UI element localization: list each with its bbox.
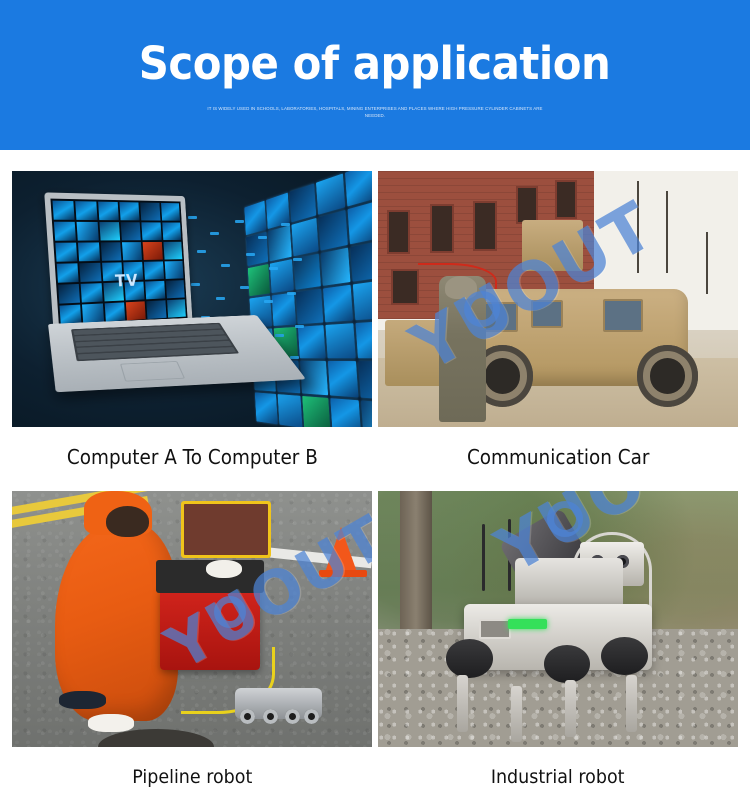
gallery-item-label: Industrial robot xyxy=(491,765,625,789)
traffic-cone-base xyxy=(319,570,367,577)
robot-leg-shin xyxy=(565,680,576,736)
robot-leg-shin xyxy=(511,686,522,742)
vehicle-window xyxy=(603,299,643,332)
vehicle-window xyxy=(531,300,562,327)
antenna-icon xyxy=(637,181,639,273)
communication-car-photo: YUOUT xyxy=(378,171,738,427)
laptop-keyboard xyxy=(71,323,239,361)
worker-shoe xyxy=(88,714,135,732)
vehicle-turret xyxy=(522,220,583,271)
industrial-robot-photo: YUOUT xyxy=(378,491,738,747)
gallery-item-communication-car[interactable]: YUOUT Communication Car xyxy=(378,171,738,491)
page-header: Scope of application IT IS WIDELY USED I… xyxy=(0,0,750,150)
laptop-screen xyxy=(50,199,187,327)
laptop-lid: TV xyxy=(44,192,193,338)
vehicle-wheel xyxy=(637,345,698,406)
gallery-item-pipeline-robot[interactable]: YUOUT Pipeline robot xyxy=(12,491,372,798)
worker-head xyxy=(106,506,149,537)
status-led xyxy=(508,619,548,629)
scope-of-application-page: Scope of application IT IS WIDELY USED I… xyxy=(0,0,750,798)
gallery-item-computer[interactable]: TV Computer A To Computer B xyxy=(12,171,372,491)
antenna-icon xyxy=(706,232,708,293)
gallery-item-label: Pipeline robot xyxy=(132,765,252,789)
worker-glove xyxy=(206,560,242,578)
laptop-trackpad xyxy=(120,361,185,382)
page-title: Scope of application xyxy=(139,38,611,90)
application-gallery: TV Computer A To Computer B xyxy=(0,150,750,798)
robot-leg-shin xyxy=(457,675,468,731)
robot-leg-thigh xyxy=(446,639,493,677)
gallery-item-label: Communication Car xyxy=(467,445,650,469)
robot-leg-thigh xyxy=(544,645,591,683)
robot-leg-thigh xyxy=(601,637,648,675)
antenna-icon xyxy=(666,191,668,273)
crawler-robot xyxy=(235,688,321,719)
page-subtitle: IT IS WIDELY USED IN SCHOOLS, LABORATORI… xyxy=(205,106,545,119)
inspection-monitor xyxy=(181,501,271,557)
tree-trunk xyxy=(400,491,432,650)
worker-shoe xyxy=(59,691,106,709)
tv-text-overlay: TV xyxy=(115,272,139,292)
soldier-helmet xyxy=(445,276,477,299)
robot-display-panel xyxy=(479,619,511,639)
antenna-icon xyxy=(482,524,485,591)
traffic-cone xyxy=(324,527,358,575)
computer-photo: TV xyxy=(12,171,372,427)
gallery-item-industrial-robot[interactable]: YUOUT Industrial robot xyxy=(378,491,738,798)
gallery-item-label: Computer A To Computer B xyxy=(67,445,318,469)
vehicle-window xyxy=(482,302,518,331)
pipeline-robot-photo: YUOUT xyxy=(12,491,372,747)
laptop-graphic: TV xyxy=(48,193,263,408)
robot-leg-shin xyxy=(626,675,637,731)
